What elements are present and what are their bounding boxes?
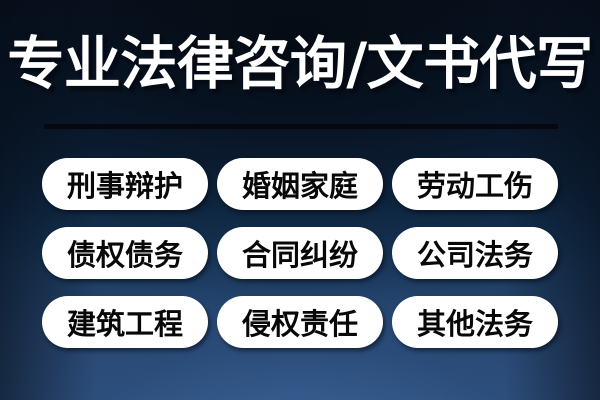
service-pill-construction-engineering[interactable]: 建筑工程 bbox=[42, 296, 208, 348]
legal-services-banner: 专业法律咨询/文书代写 刑事辩护 婚姻家庭 劳动工伤 债权债务 合同纠纷 公司法… bbox=[0, 0, 600, 400]
service-pill-contract-disputes[interactable]: 合同纠纷 bbox=[217, 227, 383, 279]
page-title: 专业法律咨询/文书代写 bbox=[0, 28, 600, 100]
service-pill-row: 建筑工程 侵权责任 其他法务 bbox=[42, 296, 558, 348]
service-pill-row: 刑事辩护 婚姻家庭 劳动工伤 bbox=[42, 158, 558, 210]
service-pill-labor-injury[interactable]: 劳动工伤 bbox=[392, 158, 558, 210]
service-pill-criminal-defense[interactable]: 刑事辩护 bbox=[42, 158, 208, 210]
service-pill-corporate-legal[interactable]: 公司法务 bbox=[392, 227, 558, 279]
service-pill-grid: 刑事辩护 婚姻家庭 劳动工伤 债权债务 合同纠纷 公司法务 建筑工程 侵权责任 … bbox=[42, 158, 558, 348]
service-pill-row: 债权债务 合同纠纷 公司法务 bbox=[42, 227, 558, 279]
service-pill-other-legal[interactable]: 其他法务 bbox=[392, 296, 558, 348]
service-pill-tort-liability[interactable]: 侵权责任 bbox=[217, 296, 383, 348]
title-divider bbox=[44, 124, 558, 129]
service-pill-debt-claims[interactable]: 债权债务 bbox=[42, 227, 208, 279]
service-pill-marriage-family[interactable]: 婚姻家庭 bbox=[217, 158, 383, 210]
